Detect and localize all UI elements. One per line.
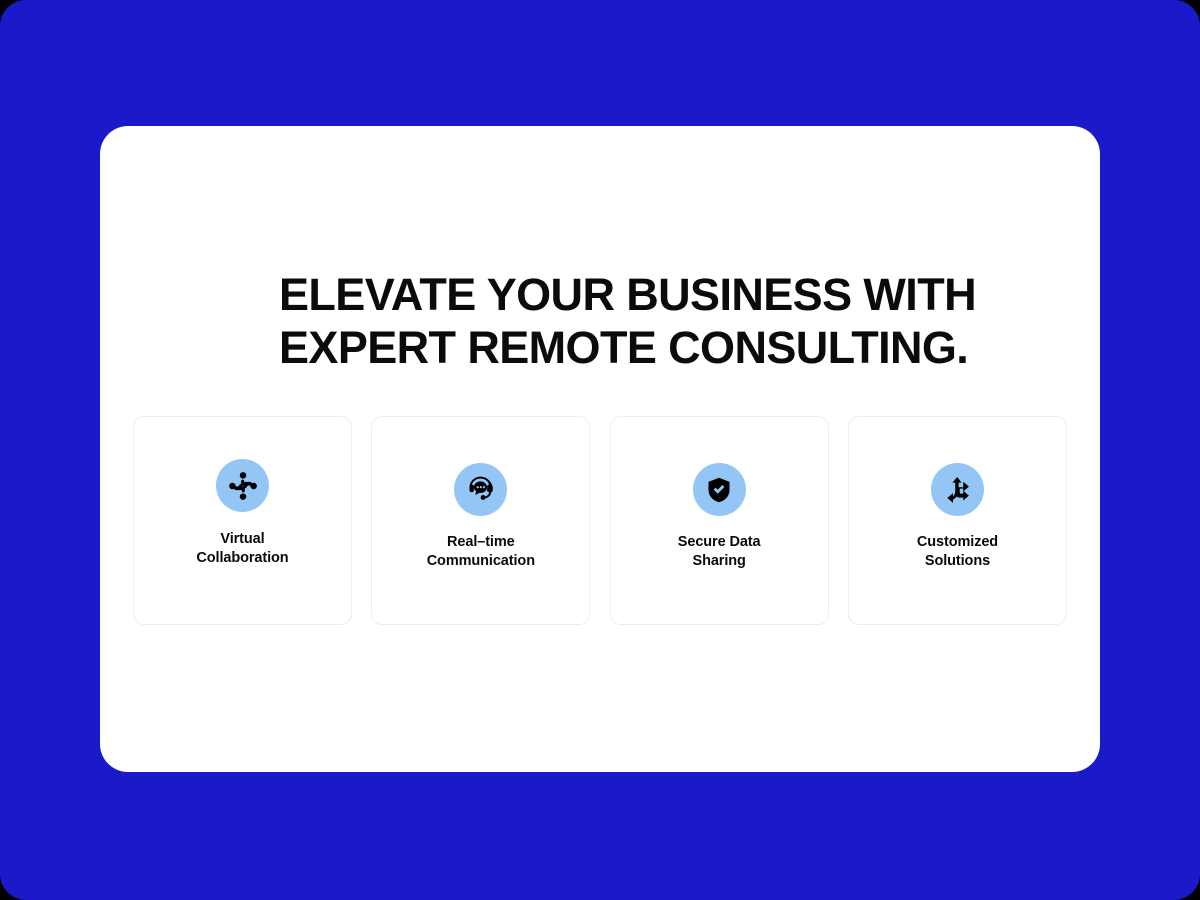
collaboration-network-icon bbox=[216, 459, 269, 512]
feature-card-list: Virtual Collaboration bbox=[133, 416, 1067, 625]
page-title: ELEVATE YOUR BUSINESS WITH EXPERT REMOTE… bbox=[279, 268, 979, 374]
feature-card-virtual-collaboration[interactable]: Virtual Collaboration bbox=[133, 416, 352, 625]
feature-card-label: Secure Data Sharing bbox=[678, 533, 761, 571]
slide-canvas: ELEVATE YOUR BUSINESS WITH EXPERT REMOTE… bbox=[0, 0, 1200, 900]
directional-arrows-icon bbox=[931, 463, 984, 516]
feature-card-customized-solutions[interactable]: Customized Solutions bbox=[848, 416, 1067, 625]
feature-card-label: Real–time Communication bbox=[427, 533, 535, 571]
feature-card-label: Customized Solutions bbox=[917, 533, 998, 571]
feature-card-real-time-communication[interactable]: Real–time Communication bbox=[371, 416, 590, 625]
feature-card-label: Virtual Collaboration bbox=[196, 530, 288, 568]
shield-check-icon bbox=[693, 463, 746, 516]
feature-card-secure-data-sharing[interactable]: Secure Data Sharing bbox=[610, 416, 829, 625]
content-panel: ELEVATE YOUR BUSINESS WITH EXPERT REMOTE… bbox=[100, 126, 1100, 772]
headset-chat-icon bbox=[454, 463, 507, 516]
